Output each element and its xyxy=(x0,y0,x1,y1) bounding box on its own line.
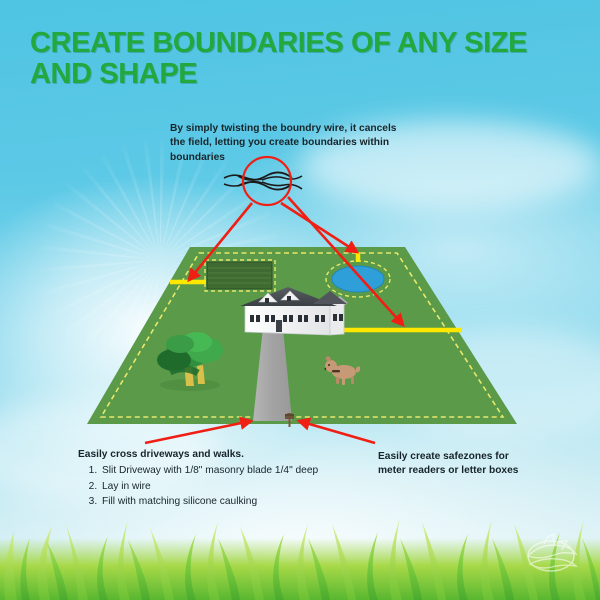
arrow-to-mailbox-safezone xyxy=(299,421,375,443)
dog-collar xyxy=(332,370,340,372)
annotation-bottom-right-line-2: meter readers or letter boxes xyxy=(378,464,538,478)
annotation-bottom-right-line-1: Easily create safezones for xyxy=(378,450,538,464)
tree xyxy=(157,332,223,391)
lawn-surface xyxy=(87,247,517,424)
lawn-area xyxy=(87,247,517,424)
infographic-canvas: CREATE BOUNDARIES OF ANY SIZE AND SHAPE xyxy=(0,0,600,600)
list-item: Slit Driveway with 1/8" masonry blade 1/… xyxy=(100,463,354,478)
house-door xyxy=(276,320,282,332)
arrow-to-driveway-crossing xyxy=(145,421,251,443)
brand-logo-watermark xyxy=(520,526,582,578)
grass-border xyxy=(0,490,600,600)
annotation-top-text: By simply twisting the boundry wire, it … xyxy=(170,123,396,163)
annotation-bottom-right: Easily create safezones for meter reader… xyxy=(378,450,538,479)
arrow-to-pond-twist xyxy=(281,203,357,252)
annotation-bottom-left-heading: Easily cross driveways and walks. xyxy=(78,448,354,462)
annotation-top: By simply twisting the boundry wire, it … xyxy=(170,122,414,165)
